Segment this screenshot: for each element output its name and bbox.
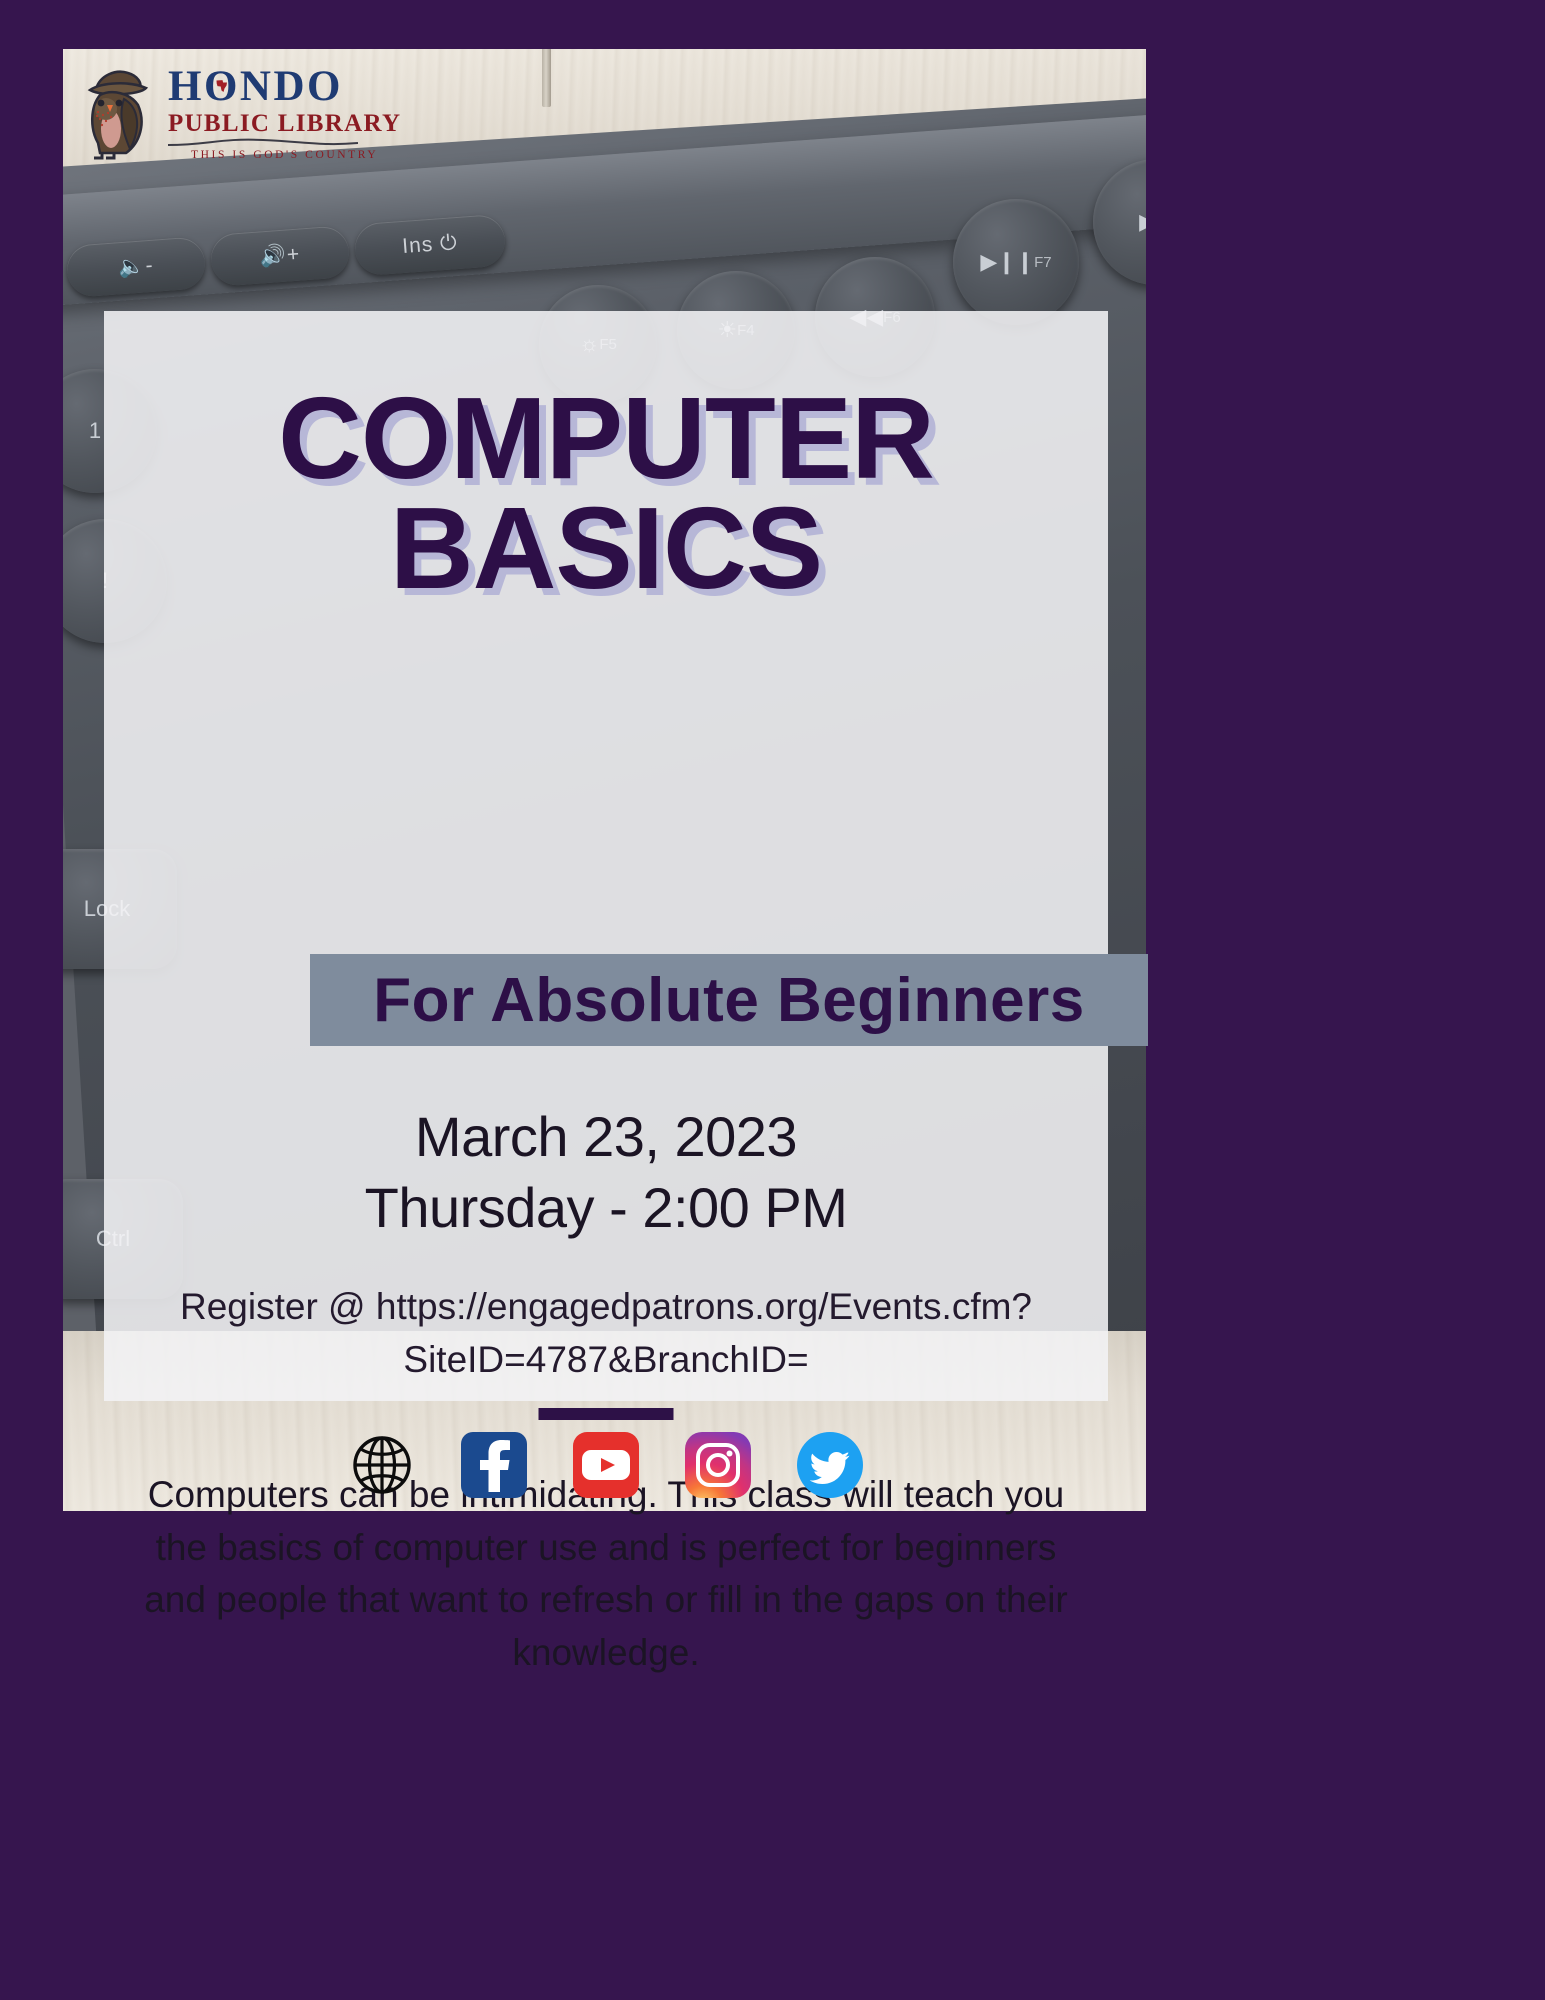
event-date: March 23, 2023 — [104, 1101, 1108, 1172]
owl-icon — [80, 65, 160, 161]
event-day-time: Thursday - 2:00 PM — [104, 1172, 1108, 1243]
content-card: COMPUTER BASICS For Absolute Beginners M… — [104, 311, 1108, 1401]
website-link[interactable] — [349, 1432, 415, 1498]
globe-icon — [351, 1434, 413, 1496]
logo-swoosh-icon — [168, 137, 358, 148]
key-f7: ▶❙❙F7 — [953, 199, 1079, 325]
twitter-link[interactable] — [797, 1432, 863, 1498]
subtitle-text: For Absolute Beginners — [373, 965, 1084, 1036]
key-volume-up: 🔊+ — [209, 225, 350, 287]
library-logo: HONDO PUBLIC LIBRARY THIS IS GOD'S COUNT… — [80, 58, 410, 168]
logo-public-library-text: PUBLIC LIBRARY — [168, 111, 401, 136]
logo-tagline: THIS IS GOD'S COUNTRY — [168, 150, 401, 162]
stand-cable — [542, 49, 551, 107]
page-title-line2: BASICS — [104, 493, 1108, 603]
facebook-link[interactable] — [461, 1432, 527, 1498]
instagram-link[interactable] — [685, 1432, 751, 1498]
registration-line-2: SiteID=4787&BranchID= — [164, 1334, 1048, 1387]
youtube-link[interactable] — [573, 1432, 639, 1498]
twitter-icon — [809, 1444, 851, 1486]
page-title-line1: COMPUTER — [104, 383, 1108, 493]
key-volume-down: 🔈- — [65, 236, 206, 298]
registration-line-1: Register @ https://engagedpatrons.org/Ev… — [164, 1281, 1048, 1334]
event-datetime: March 23, 2023 Thursday - 2:00 PM — [104, 1101, 1108, 1243]
youtube-icon — [580, 1445, 632, 1485]
facebook-icon — [474, 1438, 514, 1492]
registration-info: Register @ https://engagedpatrons.org/Ev… — [164, 1281, 1048, 1386]
logo-hondo-text: HONDO — [168, 65, 401, 108]
logo-wordmark: HONDO PUBLIC LIBRARY THIS IS GOD'S COUNT… — [168, 65, 401, 162]
subtitle-banner: For Absolute Beginners — [310, 954, 1148, 1046]
title-block: COMPUTER BASICS — [104, 383, 1108, 603]
instagram-icon — [695, 1442, 741, 1488]
social-links-row — [104, 1405, 1108, 1525]
poster-page: 🔈- 🔊+ Ins ⏻ ☼F5 ☀F4 ◀◀F6 ▶❙❙F7 ▶▶ 1 ! Lo… — [0, 0, 1545, 2000]
texas-state-icon — [213, 78, 230, 95]
